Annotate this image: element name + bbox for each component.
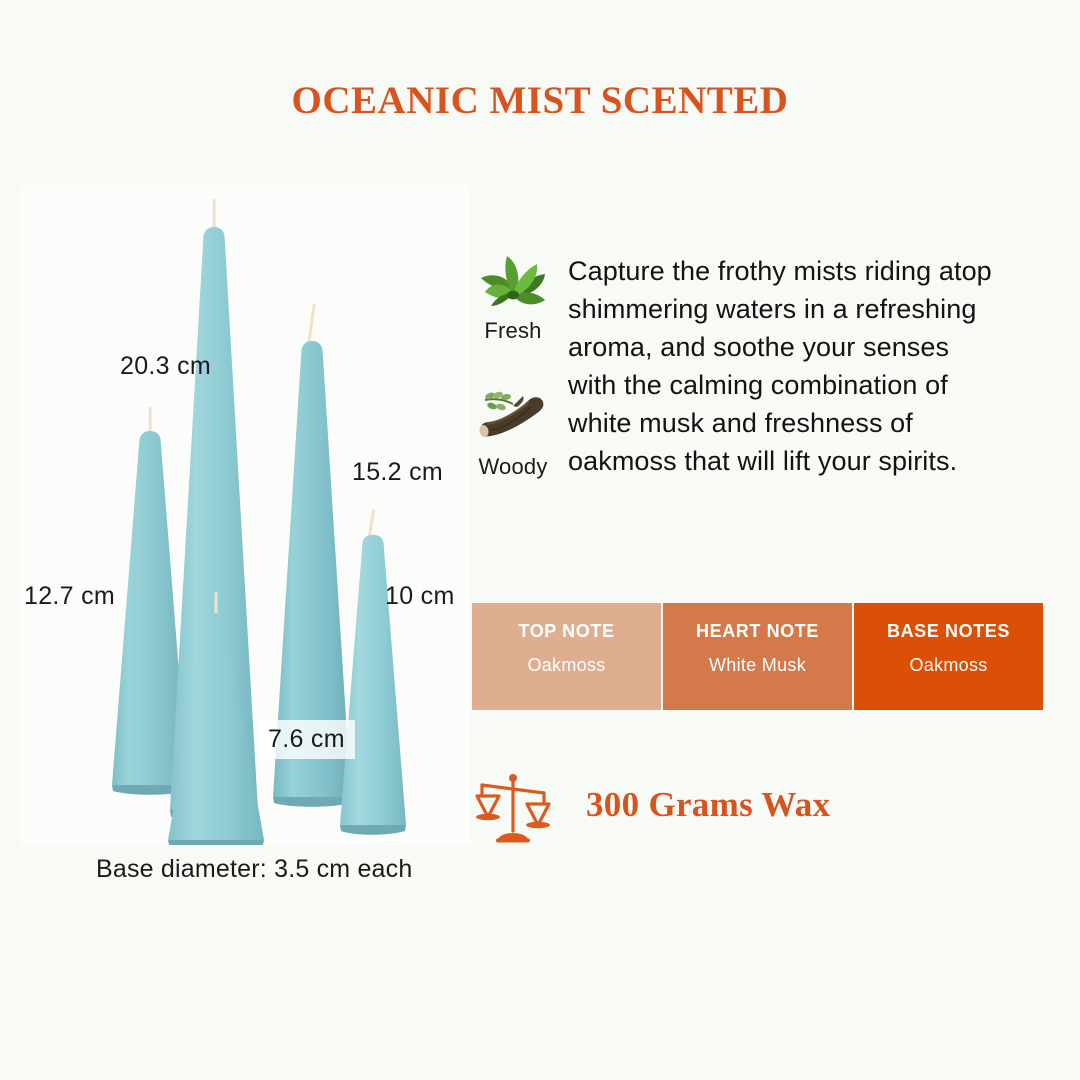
product-description: Capture the frothy mists riding atop shi… [568, 252, 998, 480]
dimension-label-10: 10 cm [385, 582, 455, 611]
note-column-heart: HEART NOTE White Musk [663, 603, 854, 710]
note-header-base: BASE NOTES [887, 621, 1010, 642]
scent-family-label-woody: Woody [468, 454, 558, 480]
dimension-label-127: 12.7 cm [24, 582, 115, 611]
dimension-label-203: 20.3 cm [120, 352, 211, 381]
page-title: OCEANIC MIST SCENTED [0, 78, 1080, 123]
infographic-page: OCEANIC MIST SCENTED [0, 0, 1080, 1080]
note-column-base: BASE NOTES Oakmoss [854, 603, 1043, 710]
candle-10 [340, 509, 406, 835]
note-value-base: Oakmoss [909, 655, 987, 676]
note-value-top: Oakmoss [527, 655, 605, 676]
candle-group-illustration [20, 185, 470, 845]
balance-scale-icon [472, 765, 554, 845]
mint-leaves-icon [473, 248, 553, 314]
scent-family-woody: Woody [468, 384, 558, 480]
dimension-label-152: 15.2 cm [352, 458, 443, 487]
wood-branch-icon [473, 384, 553, 450]
note-header-heart: HEART NOTE [696, 621, 819, 642]
note-column-top: TOP NOTE Oakmoss [472, 603, 663, 710]
scent-family-fresh: Fresh [468, 248, 558, 344]
note-value-heart: White Musk [709, 655, 806, 676]
base-diameter-caption: Base diameter: 3.5 cm each [96, 855, 412, 884]
note-header-top: TOP NOTE [518, 621, 614, 642]
scent-family-label-fresh: Fresh [468, 318, 558, 344]
wax-weight-label: 300 Grams Wax [586, 785, 830, 825]
scent-family-column: Fresh [468, 248, 558, 480]
fragrance-notes-table: TOP NOTE Oakmoss HEART NOTE White Musk B… [472, 603, 1043, 710]
candle-product-photo [20, 185, 470, 845]
dimension-label-76: 7.6 cm [258, 720, 355, 759]
wax-weight-row: 300 Grams Wax [472, 765, 830, 845]
